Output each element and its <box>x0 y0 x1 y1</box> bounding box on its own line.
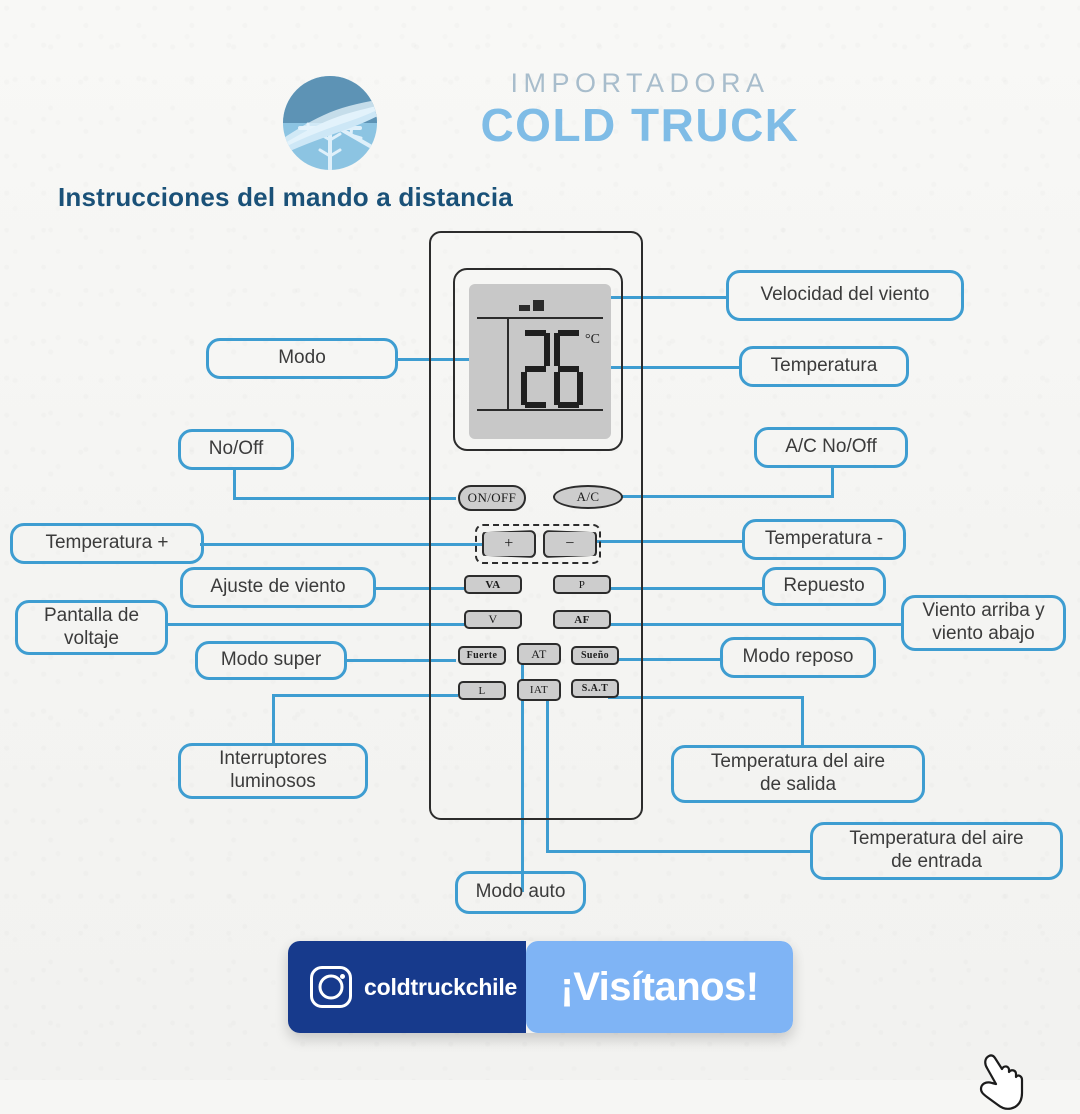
callout-salida-line2: de salida <box>760 774 836 795</box>
callout-no-off: No/Off <box>178 429 294 470</box>
lcd-divider-vertical <box>507 317 509 411</box>
button-at[interactable]: AT <box>517 643 561 665</box>
callout-interruptores-line1: Interruptores <box>219 748 327 769</box>
lcd-divider-bottom <box>477 409 603 411</box>
visit-cta-label: ¡Visítanos! <box>560 965 758 1010</box>
social-banner[interactable]: coldtruckchile ¡Visítanos! <box>288 941 793 1033</box>
instagram-handle: coldtruckchile <box>364 974 517 1001</box>
button-p[interactable]: P <box>553 575 611 594</box>
connector-salida-v <box>801 696 804 746</box>
button-v[interactable]: V <box>464 610 522 629</box>
connector-nooff-v <box>233 468 236 500</box>
brand-wordmark: IMPORTADORA COLD TRUCK <box>475 70 805 149</box>
button-l[interactable]: L <box>458 681 506 700</box>
callout-viento-line2: viento abajo <box>932 623 1034 644</box>
connector-pantalla-voltaje <box>166 623 470 626</box>
brand-header: IMPORTADORA COLD TRUCK <box>275 60 805 175</box>
button-sat[interactable]: S.A.T <box>571 679 619 698</box>
connector-interruptores-v <box>272 694 275 743</box>
callout-temp-aire-entrada: Temperatura del aire de entrada <box>810 822 1063 880</box>
callout-pantalla-line1: Pantalla de <box>44 605 139 626</box>
temperature-digit-ones <box>554 330 583 408</box>
callout-modo-super: Modo super <box>195 641 347 680</box>
temperature-unit: °C <box>585 332 600 348</box>
instagram-section[interactable]: coldtruckchile <box>288 941 526 1033</box>
callout-velocidad-del-viento: Velocidad del viento <box>726 270 964 321</box>
callout-entrada-line1: Temperatura del aire <box>849 828 1023 849</box>
connector-nooff-h <box>233 497 456 500</box>
callout-temperatura-mas: Temperatura + <box>10 523 204 564</box>
page-title: Instrucciones del mando a distancia <box>58 182 513 213</box>
hand-pointer-icon <box>972 1050 1028 1114</box>
button-temperature-up[interactable]: + <box>482 530 536 558</box>
callout-ac-no-off: A/C No/Off <box>754 427 908 468</box>
remote-control-body: °C ON/OFF A/C + − VA P V AF Fuerte AT Su… <box>429 231 643 820</box>
callout-pantalla-de-voltaje: Pantalla de voltaje <box>15 600 168 655</box>
callout-viento-arriba-abajo: Viento arriba y viento abajo <box>901 595 1066 651</box>
button-iat[interactable]: IAT <box>517 679 561 701</box>
wind-speed-indicator-icon <box>519 296 555 311</box>
callout-repuesto: Repuesto <box>762 567 886 606</box>
button-fuerte[interactable]: Fuerte <box>458 646 506 665</box>
connector-acnooff-v <box>831 466 834 498</box>
snowflake-circle-logo <box>275 68 385 178</box>
temperature-digit-tens <box>521 330 550 408</box>
visit-cta-button[interactable]: ¡Visítanos! <box>526 941 793 1033</box>
callout-modo: Modo <box>206 338 398 379</box>
callout-interruptores-luminosos: Interruptores luminosos <box>178 743 368 799</box>
callout-temp-aire-salida: Temperatura del aire de salida <box>671 745 925 803</box>
button-sueno[interactable]: Sueño <box>571 646 619 665</box>
button-af[interactable]: AF <box>553 610 611 629</box>
callout-interruptores-line2: luminosos <box>230 771 316 792</box>
callout-temperatura-menos: Temperatura - <box>742 519 906 560</box>
page-background: IMPORTADORA COLD TRUCK Instrucciones del… <box>0 0 1080 1080</box>
lcd-display: °C <box>469 284 611 439</box>
button-temperature-down[interactable]: − <box>543 530 597 558</box>
button-on-off[interactable]: ON/OFF <box>458 485 526 511</box>
temperature-readout <box>521 330 583 408</box>
callout-modo-auto: Modo auto <box>455 871 586 914</box>
screen-bezel: °C <box>453 268 623 451</box>
lcd-divider-top <box>477 317 603 319</box>
callout-temperatura: Temperatura <box>739 346 909 387</box>
connector-viento-arriba <box>604 623 904 626</box>
instagram-icon <box>310 966 352 1008</box>
connector-entrada-h <box>546 850 812 853</box>
callout-pantalla-line2: voltaje <box>64 628 119 649</box>
callout-modo-reposo: Modo reposo <box>720 637 876 678</box>
button-ac[interactable]: A/C <box>553 485 623 509</box>
brand-tagline: IMPORTADORA <box>475 70 805 97</box>
brand-name: COLD TRUCK <box>475 101 805 149</box>
callout-ajuste-de-viento: Ajuste de viento <box>180 567 376 608</box>
button-va[interactable]: VA <box>464 575 522 594</box>
callout-salida-line1: Temperatura del aire <box>711 751 885 772</box>
callout-entrada-line2: de entrada <box>891 851 982 872</box>
callout-viento-line1: Viento arriba y <box>922 600 1044 621</box>
